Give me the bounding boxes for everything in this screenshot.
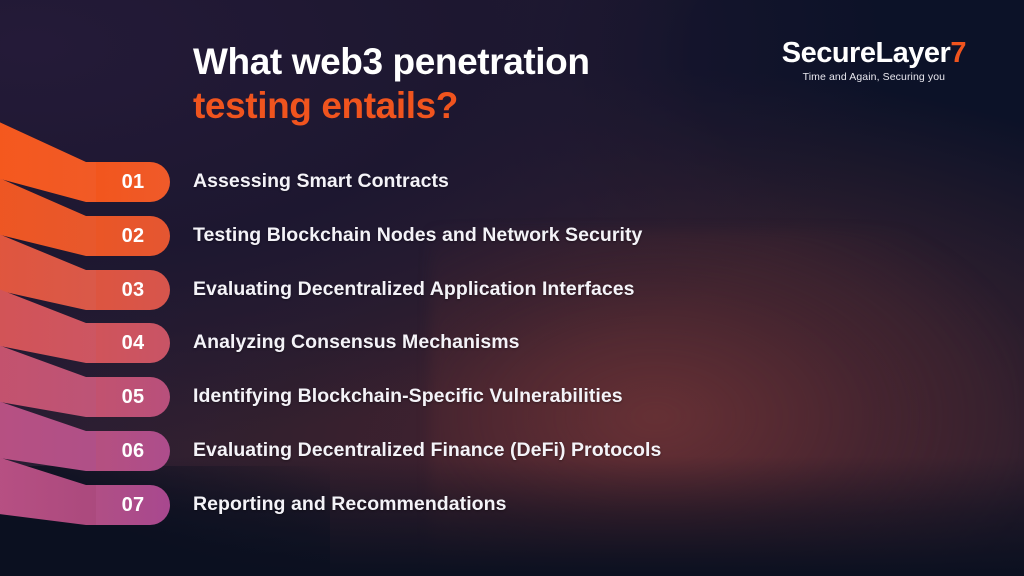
badge-05: 05 (96, 377, 170, 417)
badge-01: 01 (96, 162, 170, 202)
badge-number: 02 (122, 226, 145, 246)
list-item-06: Evaluating Decentralized Finance (DeFi) … (193, 439, 661, 462)
title-line-1: What web3 penetration (193, 40, 753, 84)
badge-02: 02 (96, 216, 170, 256)
list-item-05: Identifying Blockchain-Specific Vulnerab… (193, 385, 623, 408)
list-item-03: Evaluating Decentralized Application Int… (193, 278, 635, 301)
brand-logo[interactable]: SecureLayer7 Time and Again, Securing yo… (782, 38, 966, 83)
logo-accent-seven: 7 (950, 37, 966, 69)
badge-number: 04 (122, 333, 145, 353)
list-item-07: Reporting and Recommendations (193, 493, 506, 516)
badge-number: 07 (122, 495, 145, 515)
badge-number: 05 (122, 387, 145, 407)
badge-07: 07 (96, 485, 170, 525)
logo-wordmark: SecureLayer7 (782, 38, 966, 68)
list-item-04: Analyzing Consensus Mechanisms (193, 331, 520, 354)
badge-06: 06 (96, 431, 170, 471)
logo-tagline: Time and Again, Securing you (782, 71, 966, 83)
badge-03: 03 (96, 270, 170, 310)
badge-number: 01 (122, 172, 145, 192)
logo-name: SecureLayer (782, 37, 951, 69)
list-item-02: Testing Blockchain Nodes and Network Sec… (193, 224, 642, 247)
page-title: What web3 penetration testing entails? (193, 40, 753, 127)
title-line-2: testing entails? (193, 84, 753, 128)
badge-number: 06 (122, 441, 145, 461)
list-item-01: Assessing Smart Contracts (193, 170, 449, 193)
infographic-slide: 01020304050607 Assessing Smart Contracts… (0, 0, 1024, 576)
badge-number: 03 (122, 280, 145, 300)
badge-04: 04 (96, 323, 170, 363)
